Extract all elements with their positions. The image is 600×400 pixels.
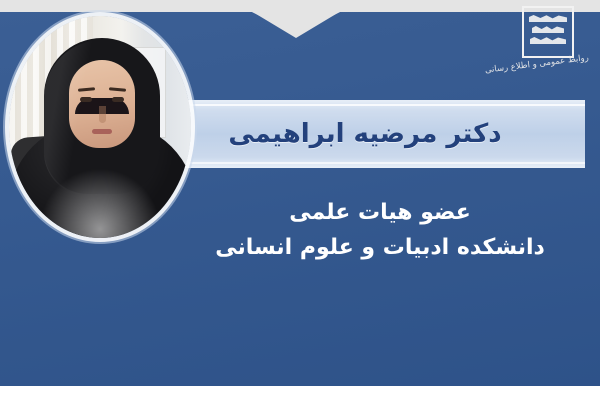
university-logo: روابط عمومی و اطلاع رسانی [486,4,590,84]
university-logo-icon [522,6,574,58]
logo-line-3 [530,37,566,44]
photo-hijab-fold [44,40,160,196]
subtitle-block: عضو هیات علمی دانشکده ادبیات و علوم انسا… [180,196,580,266]
person-name: دکتر مرضیه ابراهیمی [200,100,530,168]
promo-card: روابط عمومی و اطلاع رسانی دکتر مرضیه ابر… [0,0,600,400]
logo-calligraphy-glyphs [528,12,568,52]
subtitle-line-2: دانشکده ادبیات و علوم انسانی [180,230,580,266]
subtitle-line-1: عضو هیات علمی [180,196,580,230]
bottom-white-margin [0,386,600,400]
logo-line-1 [529,15,567,22]
logo-line-2 [532,26,564,33]
portrait-photo [9,16,191,238]
